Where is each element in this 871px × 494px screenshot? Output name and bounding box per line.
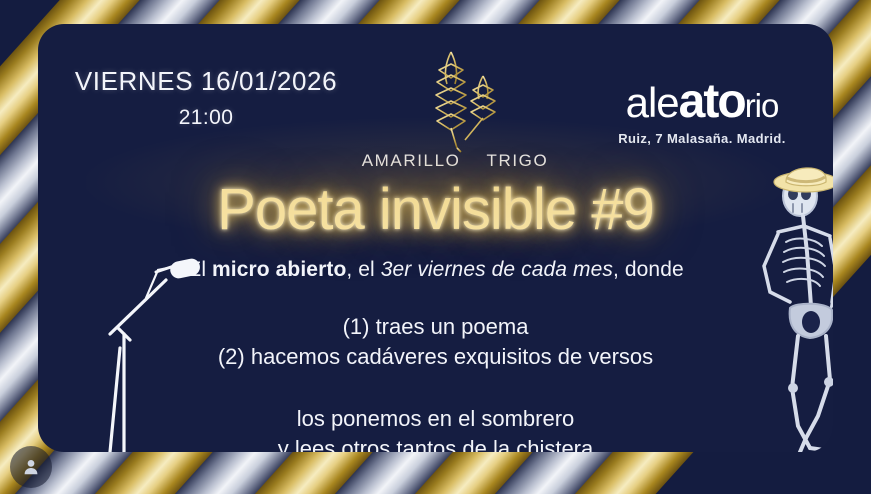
microphone-stand-icon [96,252,216,452]
ale-part-rio: rio [745,87,779,124]
amarillo-trigo-wordmark: AMARILLOTRIGO [360,151,550,171]
account-button[interactable] [10,446,52,488]
event-time: 21:00 [56,106,356,130]
wordmark-trigo: TRIGO [486,151,548,170]
aleatorio-wordmark: aleatorio [572,78,832,126]
poster-title: Poeta invisible #9 [38,176,833,243]
wheat-stalks-icon [360,40,550,155]
wordmark-amarillo: AMARILLO [362,151,461,170]
ale-part-o: o [717,75,744,128]
subtitle-tail: , donde [613,258,684,281]
amarillo-trigo-logo: AMARILLOTRIGO [360,40,550,171]
event-date: VIERNES 16/01/2026 [56,66,356,97]
venue-address: Ruiz, 7 Malasaña. Madrid. [572,131,832,146]
skeleton-with-straw-hat-icon [744,160,833,452]
event-poster: VIERNES 16/01/2026 21:00 [0,0,871,494]
poster-header: VIERNES 16/01/2026 21:00 [38,52,833,172]
poster-card: VIERNES 16/01/2026 21:00 [38,24,833,452]
aleatorio-venue-logo: aleatorio Ruiz, 7 Malasaña. Madrid. [572,78,832,146]
account-icon [21,457,41,477]
event-date-block: VIERNES 16/01/2026 21:00 [56,66,356,130]
ale-part-a: a [626,79,648,126]
subtitle-mid: , el [346,258,380,281]
ale-part-le: le [648,79,679,126]
ale-part-at: at [679,75,718,128]
subtitle-italic: 3er viernes de cada mes [381,258,613,281]
subtitle-bold: micro abierto [212,258,346,281]
